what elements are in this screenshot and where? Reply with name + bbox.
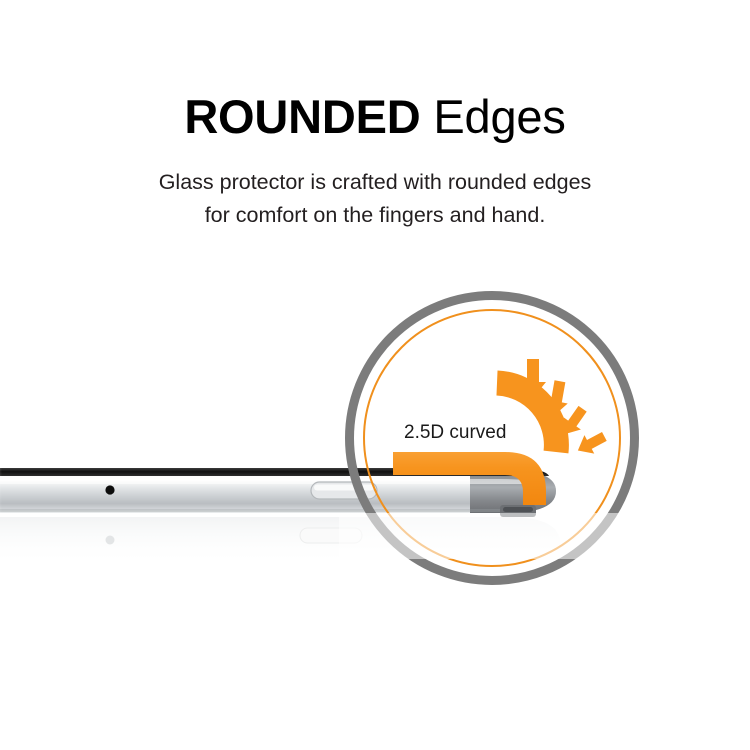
glass-protector-band-icon xyxy=(393,452,546,505)
callout-label: 2.5D curved xyxy=(404,422,506,444)
arrow-right-down-icon xyxy=(573,427,609,460)
promo-banner: ROUNDED Edges Glass protector is crafted… xyxy=(0,0,750,750)
glass-protector-graphics xyxy=(0,0,750,750)
